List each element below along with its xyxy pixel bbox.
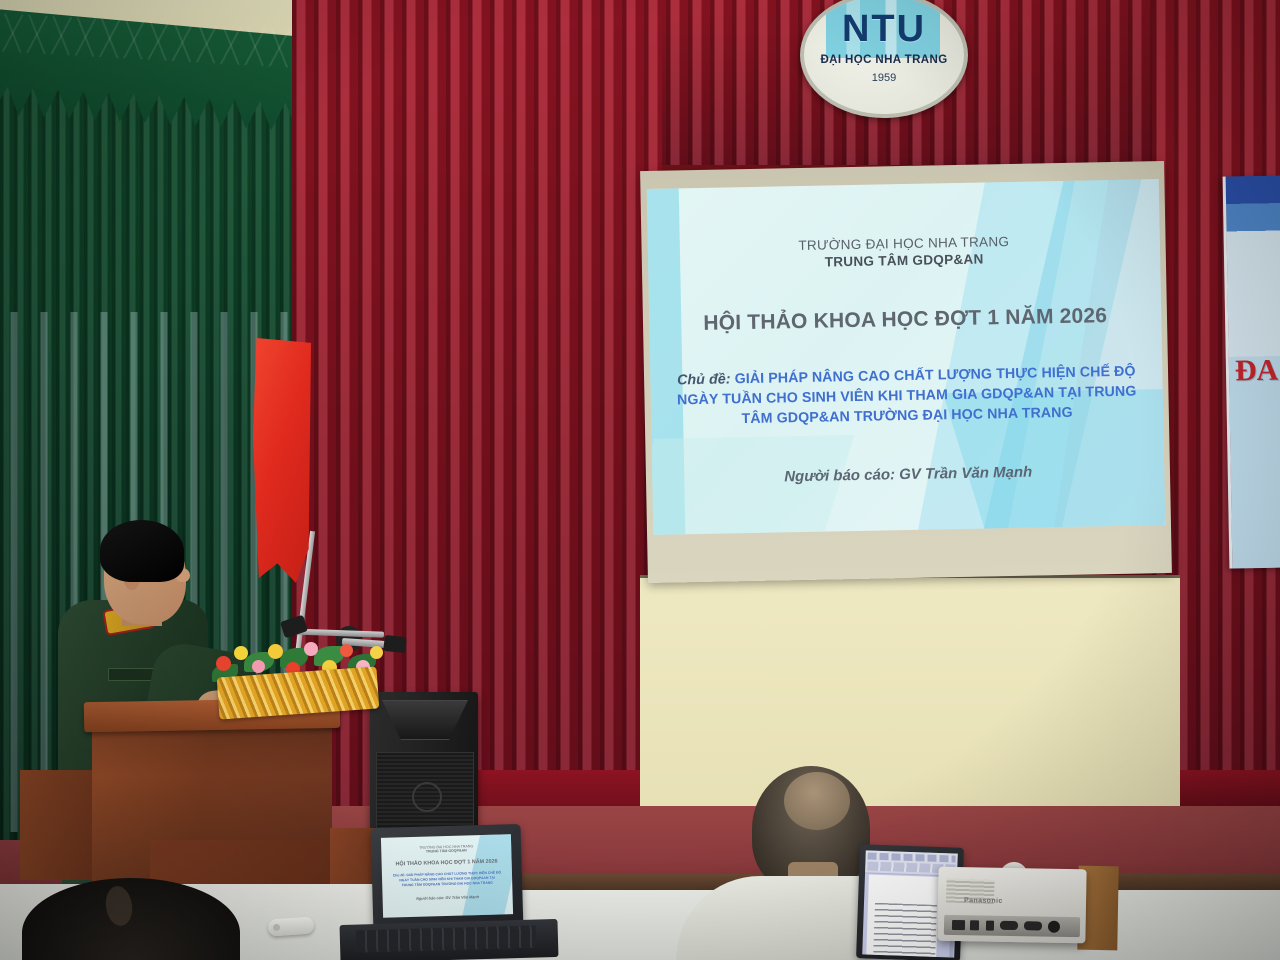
conference-hall-photo: NTU ĐẠI HỌC NHA TRANG 1959 TRƯỜNG ĐẠI HỌ… [0,0,1280,960]
vietnam-flag [253,338,311,583]
presentation-slide: TRƯỜNG ĐẠI HỌC NHA TRANG TRUNG TÂM GDQP&… [647,179,1166,535]
slide-topic: Chủ đề: GIẢI PHÁP NÂNG CAO CHẤT LƯỢNG TH… [664,361,1149,431]
ntu-logo-acronym: NTU [804,8,964,51]
slide-presenter: Người báo cáo: GV Trần Văn Mạnh [666,462,1150,488]
word-document-page [866,875,939,957]
laptop-slide-topic3: TRUNG TÂM GDQP&AN TRƯỜNG ĐẠI HỌC NHA TRA… [402,881,493,888]
projector-port-hdmi [986,921,994,931]
ntu-logo-subtitle: ĐẠI HỌC NHA TRANG [804,54,964,66]
remote-control [267,916,314,936]
projector-port-panel [944,915,1080,937]
podium-side-panel [20,770,100,880]
projector-port-usb [970,920,979,930]
projector-port-vga-1 [1000,921,1018,930]
projector-port-audio [1048,921,1060,933]
roll-up-banner: ĐA [1223,175,1280,568]
slide-title: HỘI THẢO KHOA HỌC ĐỢT 1 NĂM 2026 [663,303,1147,336]
pa-speaker-woofer-icon [412,782,442,812]
laptop-slide-title: HỘI THẢO KHOA HỌC ĐỢT 1 NĂM 2026 [382,858,512,868]
uniform-name-tag [108,668,154,681]
ntu-logo-year: 1959 [804,72,964,84]
projector-port-lan [952,920,965,930]
laptop-slide-presenter: Người báo cáo: GV Trần Văn Mạnh [383,895,513,903]
audience-head-center-scalp [784,772,850,830]
laptop-front-screen[interactable]: TRƯỜNG ĐẠI HỌC NHA TRANG TRUNG TÂM GDQP&… [381,834,513,918]
projector-brand-label: Panasonic [964,897,1003,905]
banner-text: ĐA [1235,354,1279,389]
slide-topic-line3: TÂM GDQP&AN TRƯỜNG ĐẠI HỌC NHA TRANG [741,405,1072,427]
slide-topic-label: Chủ đề: [677,371,731,388]
speaker-hair [100,520,184,582]
word-document-text-lines [873,903,937,958]
projector-port-vga-2 [1024,921,1042,930]
microphone-head-1 [383,635,407,653]
